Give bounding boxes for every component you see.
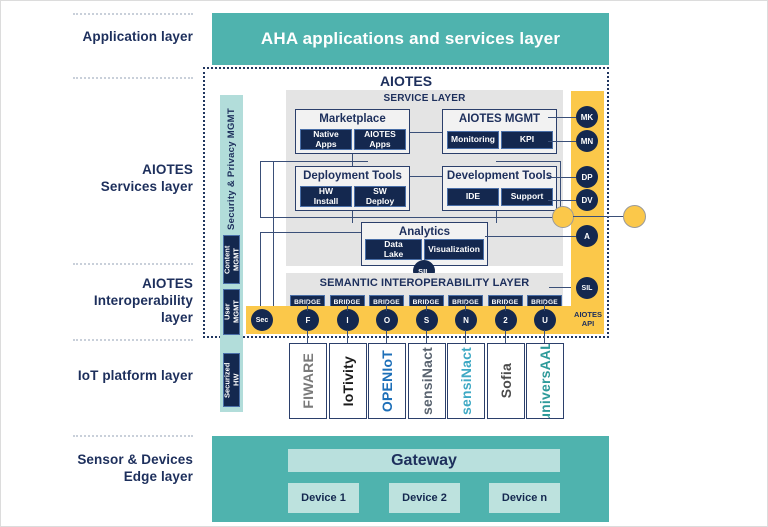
divider-interop-platform [73, 339, 193, 341]
platform-tile-sensinact[interactable]: sensiNact [408, 343, 446, 419]
connector-bridge-badge-6 [505, 301, 506, 311]
box-data-lake[interactable]: DataLake [365, 239, 422, 260]
aiotes-title: AIOTES [301, 73, 511, 89]
application-layer-bar: AHA applications and services layer [212, 13, 609, 65]
box-hw-install[interactable]: HWInstall [300, 186, 352, 207]
box-marketplace-title: Marketplace [296, 113, 409, 126]
platform-logo-label: universAAL [537, 343, 553, 419]
connector-pivot-external [573, 216, 625, 217]
platform-logo-label: Sofia [498, 363, 514, 398]
device-box-3[interactable]: Device n [489, 483, 560, 513]
badge-sil[interactable]: SIL [576, 277, 598, 299]
platform-logo-label: IoTivity [340, 356, 356, 406]
connector-analytics-left [260, 232, 365, 233]
connector-bridge-badge-1 [307, 301, 308, 311]
badge-platform-o[interactable]: O [376, 309, 398, 331]
box-kpi[interactable]: KPI [501, 131, 553, 149]
box-native-apps[interactable]: NativeApps [300, 129, 352, 150]
badge-dp[interactable]: DP [576, 166, 598, 188]
badge-platform-n[interactable]: N [455, 309, 477, 331]
side-mgmt-securized-hw[interactable]: SecurizedHW [223, 353, 240, 407]
box-deployment-tools-title: Deployment Tools [296, 170, 409, 183]
platform-tile-fiware[interactable]: FIWARE [289, 343, 327, 419]
service-layer-heading: SERVICE LAYER [286, 93, 563, 104]
platform-api-bus [246, 306, 571, 334]
connector-marketplace-mgmt [410, 132, 442, 133]
side-mgmt-content[interactable]: ContentMGMT [223, 235, 240, 284]
connector-bus-mid [260, 217, 560, 218]
box-aiotes-apps[interactable]: AIOTESApps [354, 129, 406, 150]
box-analytics-title: Analytics [362, 226, 487, 239]
platform-tile-universaal[interactable]: universAAL [526, 343, 564, 419]
connector-bridge-badge-7 [544, 301, 545, 311]
connector-left-bus-2 [260, 161, 261, 217]
box-support[interactable]: Support [501, 188, 553, 206]
box-monitoring[interactable]: Monitoring [447, 131, 499, 149]
box-visualization[interactable]: Visualization [424, 239, 484, 260]
platform-tile-openiot[interactable]: OPENIoT [368, 343, 406, 419]
connector-sec-riser [273, 161, 274, 318]
connector-bridge-badge-4 [426, 301, 427, 311]
box-development-tools-title: Development Tools [443, 170, 556, 183]
platform-logo-label: FIWARE [300, 353, 316, 409]
layer-label-aiotes-interop: AIOTESInteroperabilitylayer [41, 275, 193, 326]
connector-bus-top [260, 161, 368, 162]
side-mgmt-securized-hw-label: SecurizedHW [223, 362, 241, 397]
layer-label-iot-platform: IoT platform layer [41, 367, 193, 384]
badge-sec[interactable]: Sec [251, 309, 273, 331]
connector-sil-api [549, 287, 571, 288]
api-pivot-circle-external[interactable] [623, 205, 646, 228]
side-mgmt-user[interactable]: UserMGMT [223, 289, 240, 335]
layer-label-aiotes-services: AIOTESServices layer [41, 161, 193, 195]
aiotes-api-label: AIOTES API [567, 310, 609, 328]
layer-label-application: Application layer [41, 28, 193, 45]
badge-mn[interactable]: MN [576, 130, 598, 152]
connector-deployment-development [410, 176, 442, 177]
divider-top [73, 13, 193, 15]
badge-platform-f[interactable]: F [297, 309, 319, 331]
connector-mgmt-mn [548, 141, 576, 142]
badge-mk[interactable]: MK [576, 106, 598, 128]
connector-dev-dv [548, 200, 576, 201]
side-mgmt-content-label: ContentMGMT [223, 245, 241, 273]
connector-analytics-a [485, 236, 576, 237]
platform-logo-label: OPENIoT [379, 350, 395, 412]
badge-a[interactable]: A [576, 225, 598, 247]
side-mgmt-user-label: UserMGMT [223, 301, 241, 324]
divider-platform-edge [73, 435, 193, 437]
connector-api-riser [496, 161, 560, 162]
badge-platform-2[interactable]: 2 [495, 309, 517, 331]
device-box-2[interactable]: Device 2 [389, 483, 460, 513]
badge-platform-i[interactable]: I [337, 309, 359, 331]
badge-platform-s[interactable]: S [416, 309, 438, 331]
divider-application-services [73, 77, 193, 79]
box-sw-deploy[interactable]: SWDeploy [354, 186, 406, 207]
platform-logo-label: sensiNact [458, 347, 474, 415]
platform-tile-sofia[interactable]: Sofia [487, 343, 525, 419]
diagram-canvas: Application layer AIOTESServices layer A… [1, 1, 767, 526]
connector-bridge-badge-2 [347, 301, 348, 311]
badge-platform-u[interactable]: U [534, 309, 556, 331]
box-ide[interactable]: IDE [447, 188, 499, 206]
platform-tile-sensinact2[interactable]: sensiNact [447, 343, 485, 419]
connector-bridge-badge-3 [386, 301, 387, 311]
api-pivot-circle-inner[interactable] [552, 206, 574, 228]
box-aiotes-mgmt-title: AIOTES MGMT [443, 113, 556, 126]
side-mgmt-security-privacy: Security & Privacy MGMT [220, 95, 243, 243]
semantic-interoperability-heading: SEMANTIC INTEROPERABILITY LAYER [286, 277, 563, 289]
gateway-bar[interactable]: Gateway [288, 449, 560, 472]
badge-dv[interactable]: DV [576, 189, 598, 211]
divider-services-interop [73, 263, 193, 265]
layer-label-sensor-edge: Sensor & DevicesEdge layer [41, 451, 193, 485]
platform-tile-iotivity[interactable]: IoTivity [329, 343, 367, 419]
connector-mgmt-mk [548, 117, 576, 118]
connector-dev-dp [548, 177, 576, 178]
connector-bridge-badge-5 [465, 301, 466, 311]
device-box-1[interactable]: Device 1 [288, 483, 359, 513]
platform-logo-label: sensiNact [419, 347, 435, 415]
